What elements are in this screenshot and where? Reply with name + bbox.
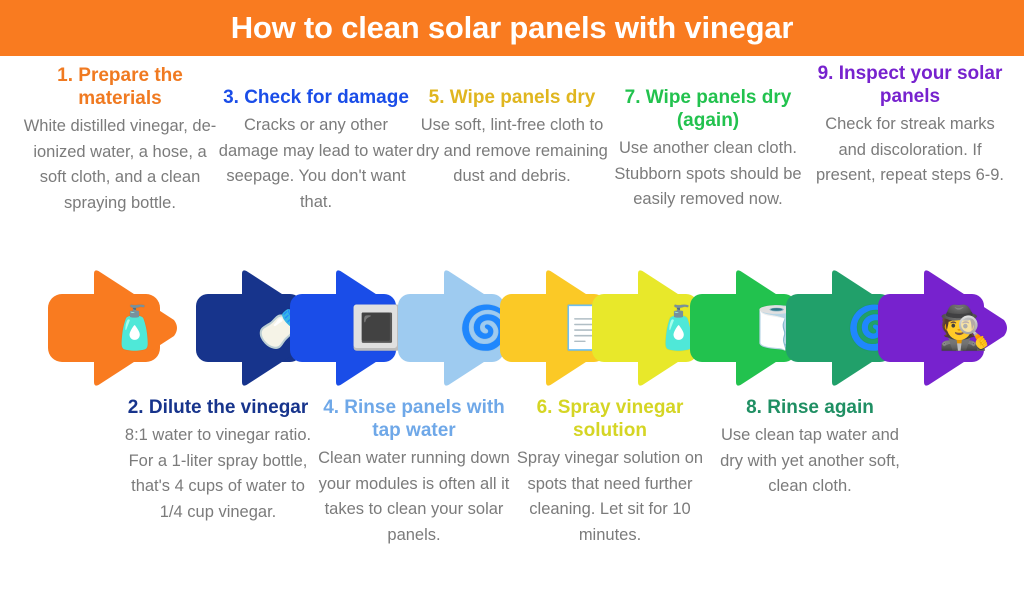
step-body-8: Use clean tap water and dry with yet ano…	[712, 423, 908, 500]
step-heading-8: 8. Rinse again	[712, 396, 908, 419]
step-heading-7: 7. Wipe panels dry (again)	[610, 86, 806, 132]
step-body-1: White distilled vinegar, de-ionized wate…	[22, 114, 218, 216]
step-text-2: 2. Dilute the vinegar 8:1 water to vineg…	[120, 396, 316, 525]
step-body-7: Use another clean cloth. Stubborn spots …	[610, 136, 806, 213]
step-heading-3: 3. Check for damage	[218, 86, 414, 109]
step-heading-6: 6. Spray vinegar solution	[512, 396, 708, 442]
step-text-8: 8. Rinse again Use clean tap water and d…	[712, 396, 908, 500]
step-body-2: 8:1 water to vinegar ratio. For a 1-lite…	[120, 423, 316, 525]
page-title: How to clean solar panels with vinegar	[231, 10, 794, 46]
step-text-9: 9. Inspect your solar panels Check for s…	[812, 62, 1008, 189]
step-heading-5: 5. Wipe panels dry	[414, 86, 610, 109]
infographic-root: How to clean solar panels with vinegar 1…	[0, 0, 1024, 597]
step-body-6: Spray vinegar solution on spots that nee…	[512, 446, 708, 548]
step-heading-4: 4. Rinse panels with tap water	[316, 396, 512, 442]
process-arrow-1: 🧴	[48, 268, 200, 388]
step-text-3: 3. Check for damage Cracks or any other …	[218, 86, 414, 215]
step-text-7: 7. Wipe panels dry (again) Use another c…	[610, 86, 806, 213]
process-arrow-band: 🧴 🍼 🔳 🌀	[0, 268, 1024, 388]
person-inspecting-icon: 🕵️	[938, 301, 992, 355]
step-text-5: 5. Wipe panels dry Use soft, lint-free c…	[414, 86, 610, 190]
process-arrow-9: 🕵️	[878, 268, 1024, 388]
step-body-9: Check for streak marks and discoloration…	[812, 112, 1008, 189]
step-body-4: Clean water running down your modules is…	[316, 446, 512, 548]
step-body-5: Use soft, lint-free cloth to dry and rem…	[414, 113, 610, 190]
step-heading-2: 2. Dilute the vinegar	[120, 396, 316, 419]
header-bar: How to clean solar panels with vinegar	[0, 0, 1024, 56]
step-text-4: 4. Rinse panels with tap water Clean wat…	[316, 396, 512, 549]
step-text-1: 1. Prepare the materials White distilled…	[22, 64, 218, 217]
step-heading-1: 1. Prepare the materials	[22, 64, 218, 110]
spray-bottle-icon: 🧴	[108, 301, 162, 355]
step-body-3: Cracks or any other damage may lead to w…	[218, 113, 414, 215]
step-heading-9: 9. Inspect your solar panels	[812, 62, 1008, 108]
step-text-6: 6. Spray vinegar solution Spray vinegar …	[512, 396, 708, 549]
solar-panel-icon: 🔳	[350, 301, 404, 355]
